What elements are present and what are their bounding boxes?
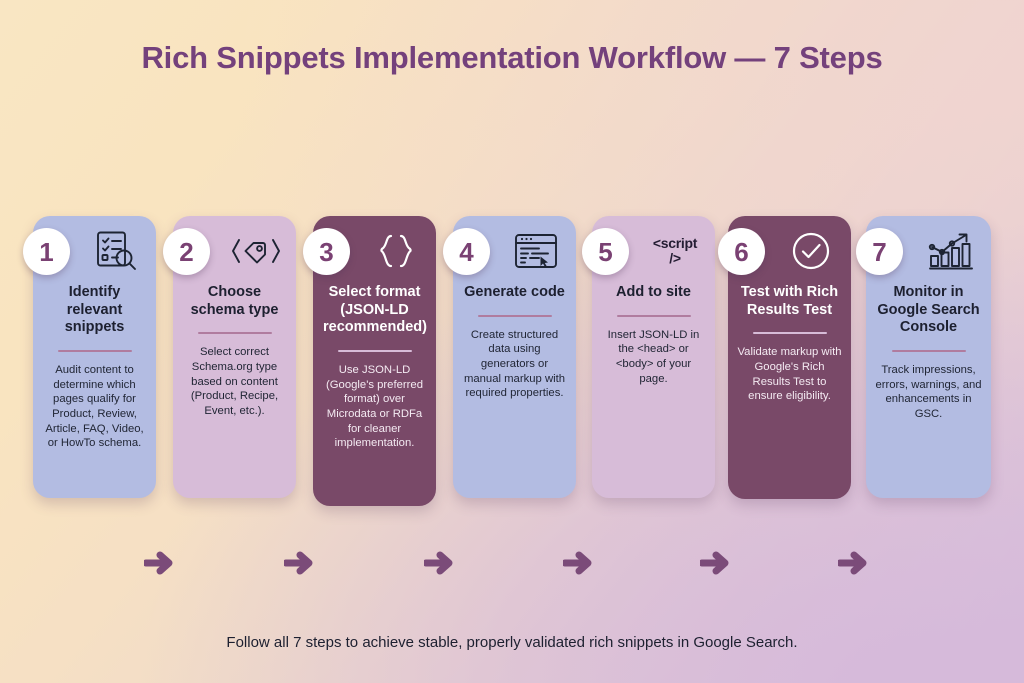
footer-note: Follow all 7 steps to achieve stable, pr…	[0, 634, 1024, 651]
curly-braces-icon	[368, 226, 424, 276]
arrow-connector-4-to-5	[563, 549, 593, 577]
step-number-badge-7: 7	[856, 228, 903, 275]
step-card-5-header: 5 <script />	[600, 216, 707, 282]
step-card-1[interactable]: 1 Identify relevant snippets Audit conte…	[33, 216, 156, 498]
step-body-5: Insert JSON-LD in the <head> or <body> o…	[600, 328, 707, 403]
step-number-badge-4: 4	[443, 228, 490, 275]
step-divider-7	[892, 350, 966, 352]
arrow-connector-5-to-6	[700, 549, 730, 577]
script-tag-icon: <script />	[647, 226, 703, 276]
step-divider-3	[338, 350, 412, 352]
step-title-6: Test with Rich Results Test	[736, 284, 843, 319]
step-divider-4	[478, 315, 552, 317]
step-card-4[interactable]: 4 Generate code	[453, 216, 576, 498]
step-title-2: Choose schema type	[181, 284, 288, 319]
step-card-3-header: 3	[321, 216, 428, 282]
step-card-5[interactable]: 5 <script /> Add to site Insert JSON-LD …	[592, 216, 715, 498]
arrow-connector-6-to-7	[838, 549, 868, 577]
step-card-2[interactable]: 2 Choose schema type Select correct Sche…	[173, 216, 296, 498]
code-window-icon	[508, 226, 564, 276]
step-card-1-header: 1	[41, 216, 148, 282]
step-card-4-header: 4	[461, 216, 568, 282]
script-tag-line-2: />	[653, 251, 697, 266]
infographic-canvas: Rich Snippets Implementation Workflow — …	[0, 0, 1024, 683]
step-divider-6	[753, 332, 827, 334]
step-card-7-header: 7	[874, 216, 983, 282]
step-title-4: Generate code	[461, 284, 568, 302]
arrow-connector-2-to-3	[284, 549, 314, 577]
step-card-6-header: 6	[736, 216, 843, 282]
step-title-7: Monitor in Google Search Console	[874, 284, 983, 337]
steps-row: 1 Identify relevant snippets Audit conte…	[0, 216, 1024, 516]
arrow-connector-1-to-2	[144, 549, 174, 577]
step-divider-1	[58, 350, 132, 352]
circle-check-icon	[783, 226, 839, 276]
script-tag-line-1: <script	[653, 236, 697, 251]
step-number-badge-3: 3	[303, 228, 350, 275]
step-body-1: Audit content to determine which pages q…	[41, 363, 148, 467]
step-body-7: Track impressions, errors, warnings, and…	[874, 363, 983, 438]
tag-in-angle-brackets-icon	[228, 226, 284, 276]
step-number-badge-1: 1	[23, 228, 70, 275]
checklist-magnifier-icon	[88, 226, 144, 276]
step-number-badge-2: 2	[163, 228, 210, 275]
step-card-2-header: 2	[181, 216, 288, 282]
step-divider-5	[617, 315, 691, 317]
step-card-7[interactable]: 7 Monitor in Goog	[866, 216, 991, 498]
step-body-3: Use JSON-LD (Google's preferred format) …	[321, 363, 428, 467]
step-title-3: Select format (JSON-LD recommended)	[321, 284, 428, 337]
step-body-4: Create structured data using generators …	[461, 328, 568, 417]
step-title-5: Add to site	[600, 284, 707, 302]
bar-chart-trend-icon	[923, 226, 979, 276]
step-number-badge-5: 5	[582, 228, 629, 275]
step-card-3[interactable]: 3 Select format (JSON-LD recommended) Us…	[313, 216, 436, 506]
step-card-6[interactable]: 6 Test with Rich Results Test Validate m…	[728, 216, 851, 499]
page-title: Rich Snippets Implementation Workflow — …	[0, 40, 1024, 76]
step-title-1: Identify relevant snippets	[41, 284, 148, 337]
arrow-connector-3-to-4	[424, 549, 454, 577]
step-body-2: Select correct Schema.org type based on …	[181, 345, 288, 434]
step-number-badge-6: 6	[718, 228, 765, 275]
step-divider-2	[198, 332, 272, 334]
step-body-6: Validate markup with Google's Rich Resul…	[736, 345, 843, 420]
